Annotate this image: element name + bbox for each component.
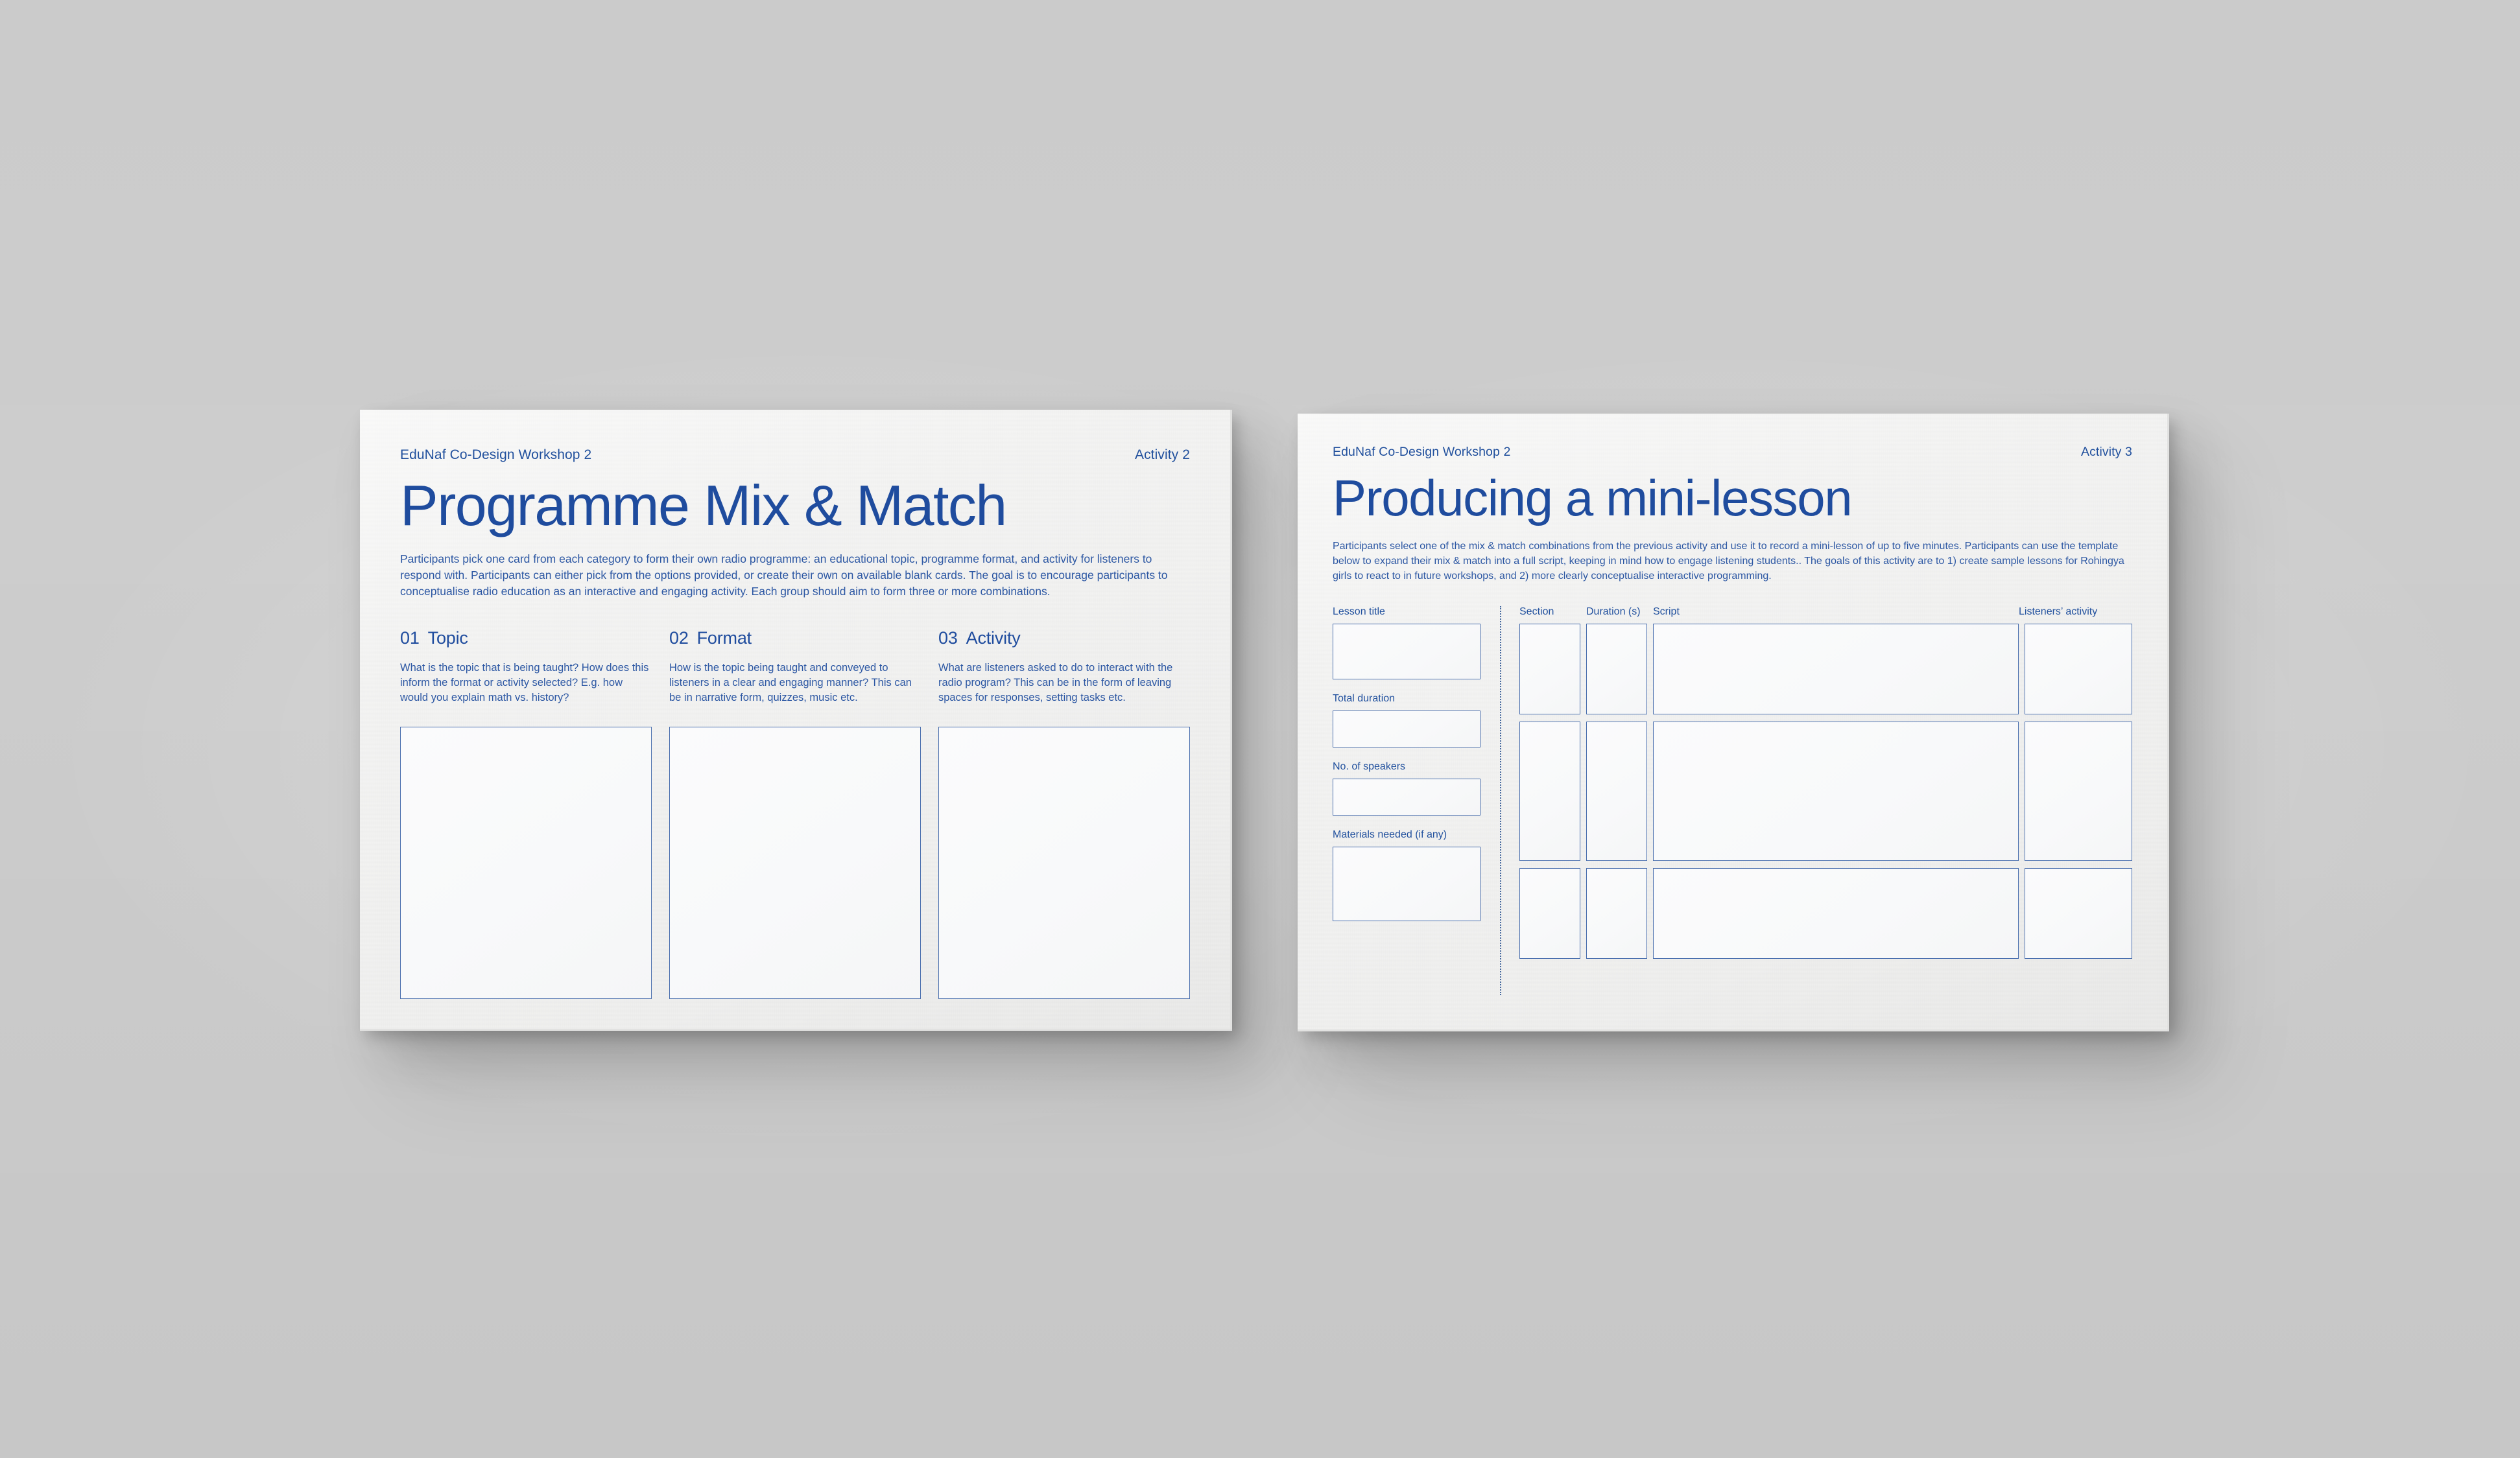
workshop-eyebrow-label: EduNaf Co-Design Workshop 2 (1333, 445, 1510, 460)
vertical-dotted-divider (1500, 606, 1501, 995)
table-row (1519, 868, 2132, 959)
column-description: What are listeners asked to do to intera… (938, 661, 1190, 709)
column-heading: 03 Activity (938, 628, 1190, 648)
cell-section[interactable] (1519, 624, 1580, 714)
column-description: What is the topic that is being taught? … (400, 661, 652, 709)
column-description: How is the topic being taught and convey… (669, 661, 921, 709)
worksheet-card-activity-2: EduNaf Co-Design Workshop 2 Activity 2 P… (360, 410, 1230, 1029)
cell-section[interactable] (1519, 868, 1580, 959)
field-group-materials-needed: Materials needed (if any) (1333, 829, 1480, 921)
page-title: Programme Mix & Match (400, 477, 1190, 534)
column-heading: 01 Topic (400, 628, 652, 648)
blank-card-area-activity[interactable] (938, 727, 1190, 999)
column-header-duration: Duration (s) (1586, 606, 1653, 618)
lesson-title-input[interactable] (1333, 624, 1480, 679)
column-number: 01 (400, 628, 420, 648)
worksheet-card-activity-3: EduNaf Co-Design Workshop 2 Activity 3 P… (1298, 414, 2167, 1029)
total-duration-input[interactable] (1333, 711, 1480, 747)
column-header-script: Script (1653, 606, 2019, 618)
materials-needed-input[interactable] (1333, 847, 1480, 921)
column-number: 02 (669, 628, 689, 648)
page-title: Producing a mini-lesson (1333, 473, 2132, 523)
script-table-header-row: Section Duration (s) Script Listeners’ a… (1519, 606, 2132, 618)
cell-duration[interactable] (1586, 722, 1647, 861)
activity-number-label: Activity 2 (1135, 447, 1190, 463)
no-of-speakers-input[interactable] (1333, 779, 1480, 816)
field-group-no-of-speakers: No. of speakers (1333, 761, 1480, 816)
total-duration-label: Total duration (1333, 693, 1480, 705)
workshop-eyebrow-label: EduNaf Co-Design Workshop 2 (400, 447, 591, 463)
column-title: Topic (428, 628, 468, 648)
materials-needed-label: Materials needed (if any) (1333, 829, 1480, 841)
intro-paragraph: Participants pick one card from each cat… (400, 551, 1193, 600)
table-row (1519, 722, 2132, 861)
cell-script[interactable] (1653, 624, 2019, 714)
field-group-total-duration: Total duration (1333, 693, 1480, 747)
cell-listeners[interactable] (2025, 624, 2132, 714)
column-title: Activity (966, 628, 1021, 648)
right-card-header: EduNaf Co-Design Workshop 2 Activity 3 (1333, 445, 2132, 460)
column-title: Format (697, 628, 752, 648)
category-column-format: 02 Format How is the topic being taught … (669, 628, 921, 999)
cell-duration[interactable] (1586, 624, 1647, 714)
script-table: Section Duration (s) Script Listeners’ a… (1519, 606, 2132, 959)
blank-card-area-format[interactable] (669, 727, 921, 999)
lesson-metadata-fields: Lesson title Total duration No. of speak… (1333, 606, 1480, 921)
category-columns: 01 Topic What is the topic that is being… (400, 628, 1190, 999)
column-number: 03 (938, 628, 958, 648)
cell-script[interactable] (1653, 868, 2019, 959)
blank-card-area-topic[interactable] (400, 727, 652, 999)
no-of-speakers-label: No. of speakers (1333, 761, 1480, 773)
intro-paragraph: Participants select one of the mix & mat… (1333, 539, 2128, 584)
lesson-title-label: Lesson title (1333, 606, 1480, 618)
cell-listeners[interactable] (2025, 722, 2132, 861)
activity-number-label: Activity 3 (2081, 445, 2132, 460)
column-header-section: Section (1519, 606, 1586, 618)
table-row (1519, 624, 2132, 714)
category-column-topic: 01 Topic What is the topic that is being… (400, 628, 652, 999)
column-header-listeners-activity: Listeners’ activity (2019, 606, 2132, 618)
cell-section[interactable] (1519, 722, 1580, 861)
column-heading: 02 Format (669, 628, 921, 648)
cell-listeners[interactable] (2025, 868, 2132, 959)
category-column-activity: 03 Activity What are listeners asked to … (938, 628, 1190, 999)
left-card-header: EduNaf Co-Design Workshop 2 Activity 2 (400, 447, 1190, 463)
cell-script[interactable] (1653, 722, 2019, 861)
field-group-lesson-title: Lesson title (1333, 606, 1480, 679)
lesson-template: Lesson title Total duration No. of speak… (1333, 606, 2132, 995)
cell-duration[interactable] (1586, 868, 1647, 959)
